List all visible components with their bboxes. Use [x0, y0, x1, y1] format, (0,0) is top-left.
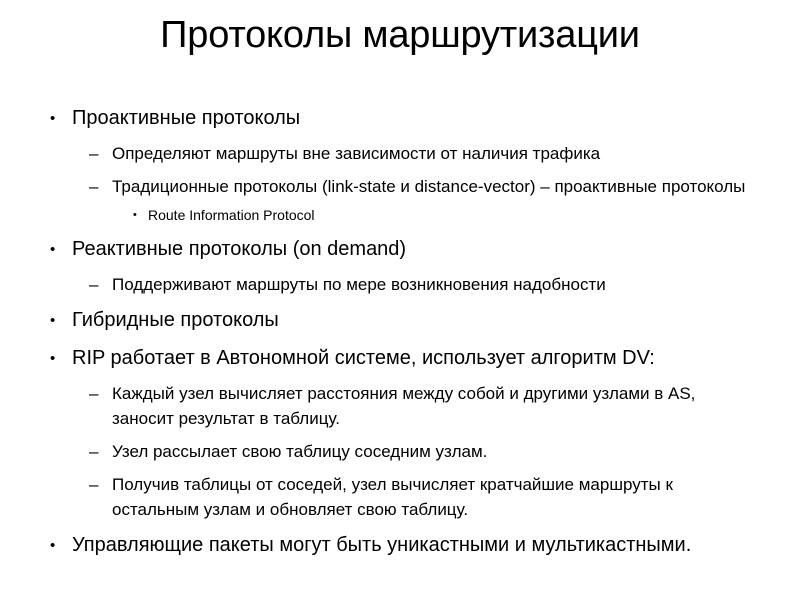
bullet-marker-level2: –: [89, 381, 112, 406]
bullet-text: Традиционные протоколы (link-state и dis…: [112, 174, 756, 199]
bullet-item-level1: •Управляющие пакеты могут быть уникастны…: [50, 531, 756, 560]
bullet-item-level2: –Поддерживают маршруты по мере возникнов…: [89, 272, 756, 297]
page-title: Протоколы маршрутизации: [40, 12, 760, 58]
bullet-text: Управляющие пакеты могут быть уникастным…: [72, 531, 756, 560]
bullet-text: Гибридные протоколы: [72, 306, 756, 335]
bullet-item-level1: •Реактивные протоколы (on demand): [50, 235, 756, 264]
bullet-marker-level1: •: [50, 306, 72, 335]
bullet-item-level2: –Традиционные протоколы (link-state и di…: [89, 174, 756, 199]
bullet-text: Проактивные протоколы: [72, 104, 756, 133]
bullet-list: •Проактивные протоколы–Определяют маршру…: [50, 104, 756, 560]
bullet-text: RIP работает в Автономной системе, испол…: [72, 344, 756, 373]
bullet-marker-level2: –: [89, 439, 112, 464]
bullet-item-level1: •Проактивные протоколы: [50, 104, 756, 133]
bullet-marker-level1: •: [50, 235, 72, 264]
bullet-marker-level3: •: [133, 205, 148, 226]
bullet-item-level1: •RIP работает в Автономной системе, испо…: [50, 344, 756, 373]
bullet-item-level2: –Каждый узел вычисляет расстояния между …: [89, 381, 756, 431]
bullet-marker-level2: –: [89, 472, 112, 497]
bullet-text: Определяют маршруты вне зависимости от н…: [112, 141, 756, 166]
bullet-marker-level1: •: [50, 344, 72, 373]
bullet-marker-level2: –: [89, 174, 112, 199]
slide: Протоколы маршрутизации •Проактивные про…: [0, 0, 800, 600]
bullet-text: Route Information Protocol: [148, 205, 756, 226]
bullet-item-level1: •Гибридные протоколы: [50, 306, 756, 335]
bullet-marker-level1: •: [50, 531, 72, 560]
bullet-item-level2: –Узел рассылает свою таблицу соседним уз…: [89, 439, 756, 464]
bullet-text: Каждый узел вычисляет расстояния между с…: [112, 381, 756, 431]
bullet-text: Узел рассылает свою таблицу соседним узл…: [112, 439, 756, 464]
bullet-marker-level1: •: [50, 104, 72, 133]
bullet-text: Реактивные протоколы (on demand): [72, 235, 756, 264]
bullet-text: Получив таблицы от соседей, узел вычисля…: [112, 472, 756, 522]
bullet-text: Поддерживают маршруты по мере возникнове…: [112, 272, 756, 297]
bullet-marker-level2: –: [89, 272, 112, 297]
bullet-item-level2: –Определяют маршруты вне зависимости от …: [89, 141, 756, 166]
bullet-item-level3: •Route Information Protocol: [133, 205, 756, 226]
bullet-item-level2: –Получив таблицы от соседей, узел вычисл…: [89, 472, 756, 522]
bullet-marker-level2: –: [89, 141, 112, 166]
